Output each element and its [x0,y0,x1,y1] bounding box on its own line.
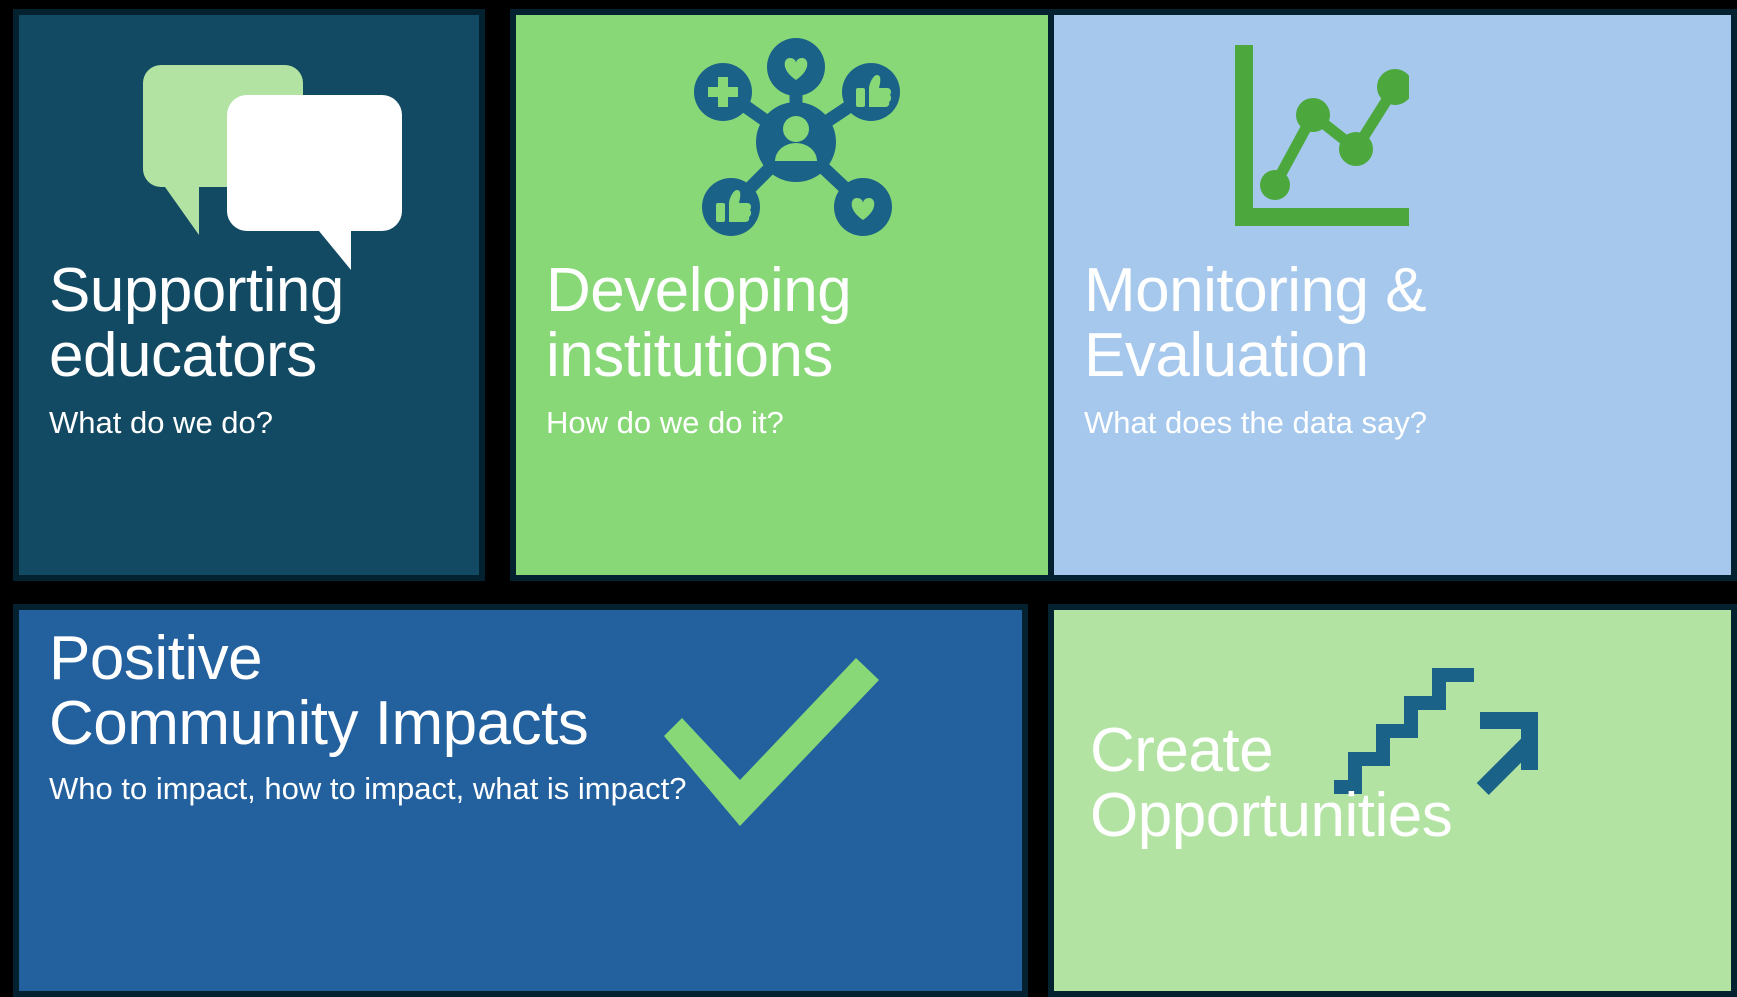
tile-title: Create Opportunities [1090,718,1711,848]
tile-text-block: Create Opportunities [1090,718,1711,848]
tile-title: Monitoring & Evaluation [1084,258,1711,388]
tile-supporting-educators[interactable]: Supporting educators What do we do? [13,9,485,581]
tile-title: Developing institutions [546,258,1109,388]
tile-text-block: Developing institutions How do we do it? [546,258,1109,440]
tile-subtitle: How do we do it? [546,406,1109,440]
tile-body: Positive Community Impacts Who to impact… [19,610,1022,991]
tile-subtitle: Who to impact, how to impact, what is im… [49,772,1002,806]
tile-body: Monitoring & Evaluation What does the da… [1054,15,1731,575]
tile-body: Supporting educators What do we do? [19,15,479,575]
tile-monitoring-evaluation[interactable]: Monitoring & Evaluation What does the da… [1048,9,1737,581]
tile-board: Supporting educators What do we do? [0,0,1737,997]
network-people-icon [681,37,911,242]
tile-subtitle: What do we do? [49,406,459,440]
tile-body: Developing institutions How do we do it? [516,15,1129,575]
tile-developing-institutions[interactable]: Developing institutions How do we do it? [510,9,1135,581]
speech-bubbles-icon [137,65,402,270]
tile-positive-community-impacts[interactable]: Positive Community Impacts Who to impact… [13,604,1028,997]
tile-title: Positive Community Impacts [49,626,1002,756]
tile-text-block: Supporting educators What do we do? [49,258,459,440]
line-chart-icon [1229,45,1409,235]
tile-text-block: Monitoring & Evaluation What does the da… [1084,258,1711,440]
tile-subtitle: What does the data say? [1084,406,1711,440]
tile-text-block: Positive Community Impacts Who to impact… [49,626,1002,806]
tile-body: Create Opportunities [1054,610,1731,991]
tile-title: Supporting educators [49,258,459,388]
tile-create-opportunities[interactable]: Create Opportunities [1048,604,1737,997]
